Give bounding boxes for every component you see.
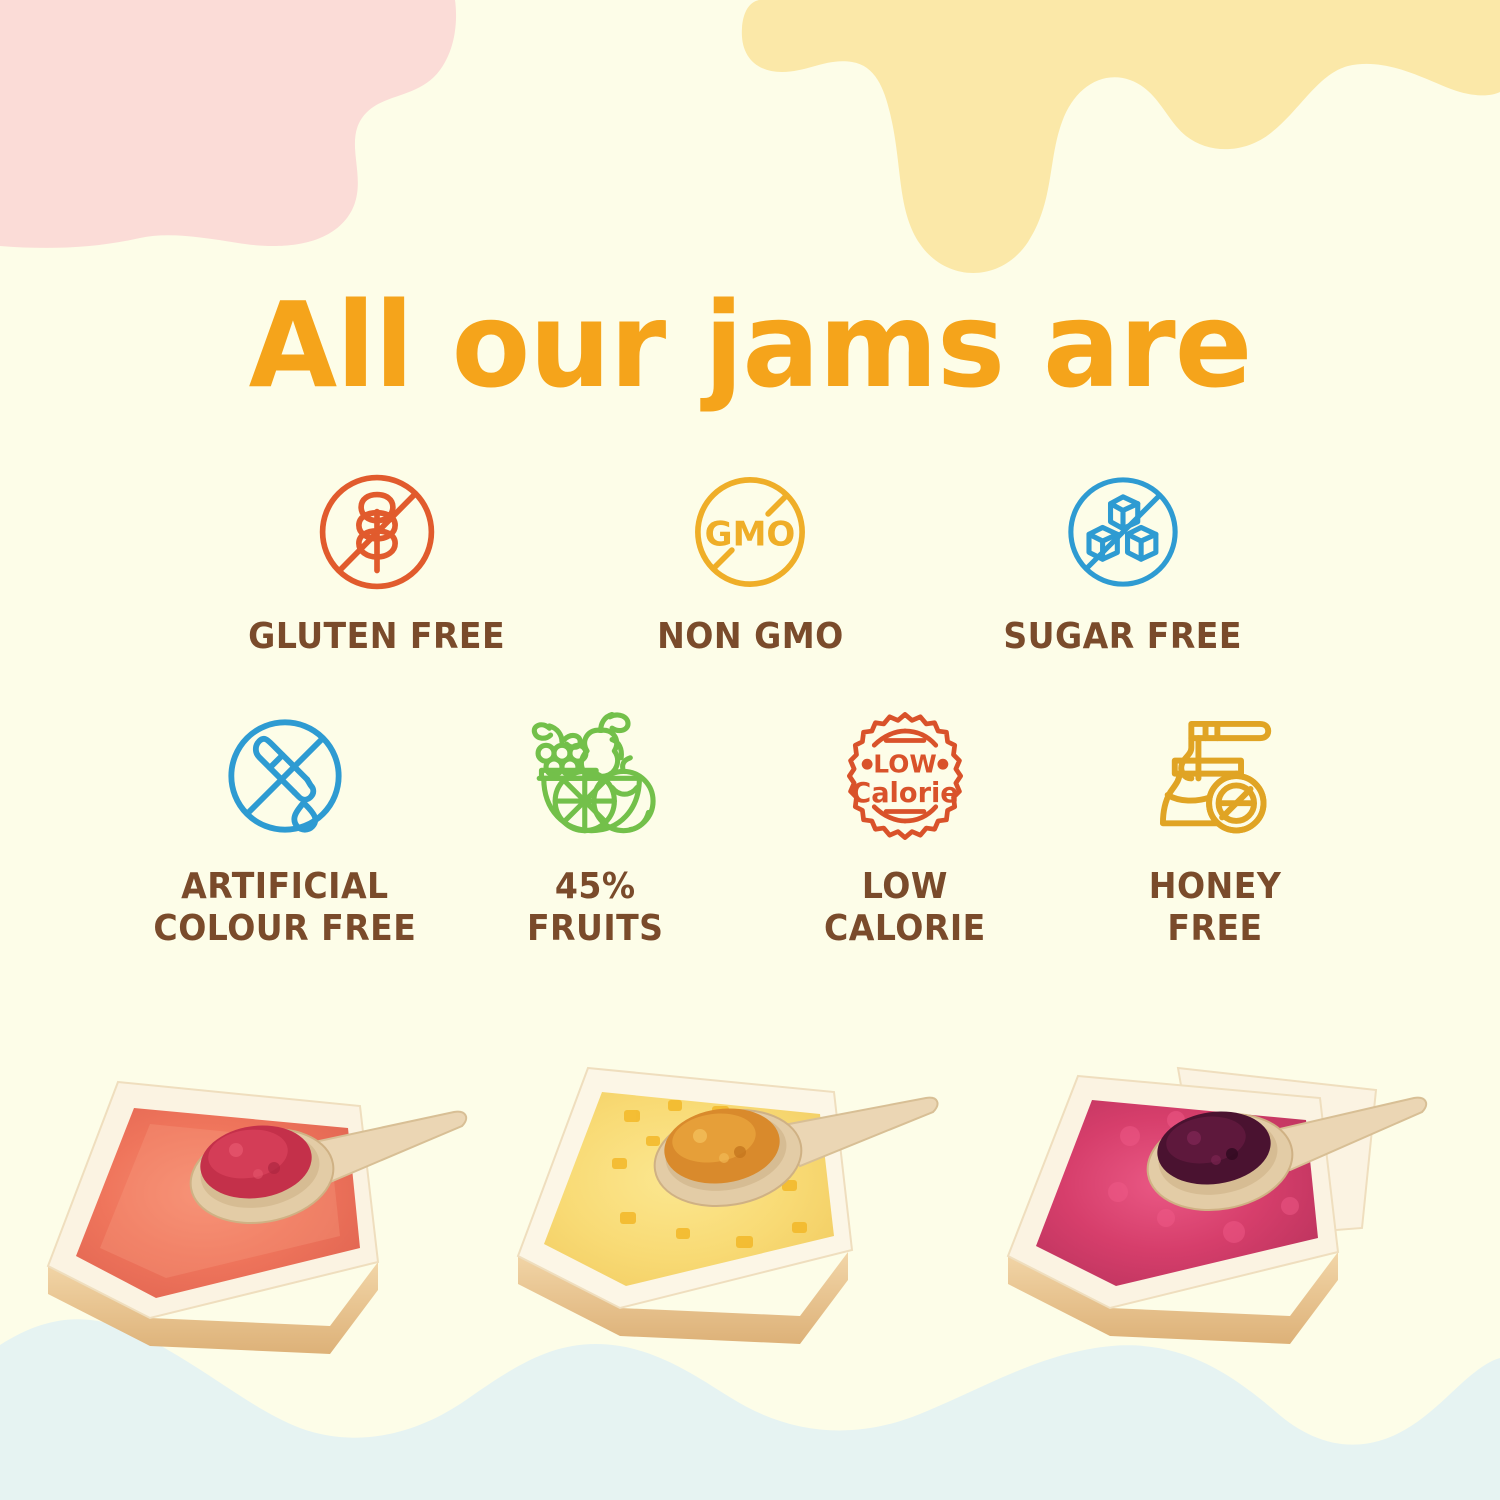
badge-honey-free: HONEY FREE <box>1060 700 1370 950</box>
badge-label: NON GMO <box>657 616 844 658</box>
no-dropper-icon <box>215 706 355 846</box>
badge-low-calorie: LOW Calorie LOW CALORIE <box>750 700 1060 950</box>
fruit-bowl-icon <box>521 706 669 846</box>
badge-sugar-free: SUGAR FREE <box>937 462 1310 658</box>
poster-canvas: All our jams are GLUTEN FREE <box>0 0 1500 1500</box>
seal-line-1: LOW <box>873 749 936 778</box>
seal-line-2: Calorie <box>851 778 959 809</box>
badge-label: ARTIFICIAL COLOUR FREE <box>154 866 417 950</box>
badge-label: HONEY FREE <box>1149 866 1282 950</box>
icon-wrap-non-gmo: GMO <box>682 462 818 602</box>
badge-non-gmo: GMO NON GMO <box>564 462 937 658</box>
page-title: All our jams are <box>23 286 1478 404</box>
badge-artificial-colour-free: ARTIFICIAL COLOUR FREE <box>130 700 440 950</box>
icon-wrap-honey-free <box>1144 700 1286 852</box>
icon-wrap-fruits <box>521 700 669 852</box>
badge-gluten-free: GLUTEN FREE <box>191 462 564 658</box>
icon-wrap-gluten-free <box>309 462 445 602</box>
badge-label: 45% FRUITS <box>527 866 664 950</box>
pink-blob-shape <box>0 0 456 248</box>
badge-label: LOW CALORIE <box>824 866 986 950</box>
badge-row-1: GLUTEN FREE GMO NON GMO <box>190 462 1310 658</box>
product-photo-row <box>0 1020 1500 1360</box>
no-honey-pot-icon <box>1144 705 1286 847</box>
low-calorie-seal-icon: LOW Calorie <box>834 705 976 847</box>
no-sugar-cubes-icon <box>1055 464 1191 600</box>
mixed-berry-jam-toast <box>990 1040 1430 1370</box>
strawberry-jam-toast <box>30 1050 470 1380</box>
gmo-text: GMO <box>705 515 796 555</box>
orange-marmalade-toast <box>500 1040 940 1370</box>
icon-wrap-artificial-colour-free <box>215 700 355 852</box>
yellow-blob-shape <box>742 0 1500 273</box>
badge-row-2: ARTIFICIAL COLOUR FREE <box>130 700 1370 950</box>
badge-label: GLUTEN FREE <box>249 616 506 658</box>
badge-45-percent-fruits: 45% FRUITS <box>440 700 750 950</box>
no-wheat-icon <box>309 464 445 600</box>
icon-wrap-sugar-free <box>1055 462 1191 602</box>
no-gmo-icon: GMO <box>682 464 818 600</box>
icon-wrap-low-calorie: LOW Calorie <box>834 700 976 852</box>
badge-label: SUGAR FREE <box>1004 616 1243 658</box>
